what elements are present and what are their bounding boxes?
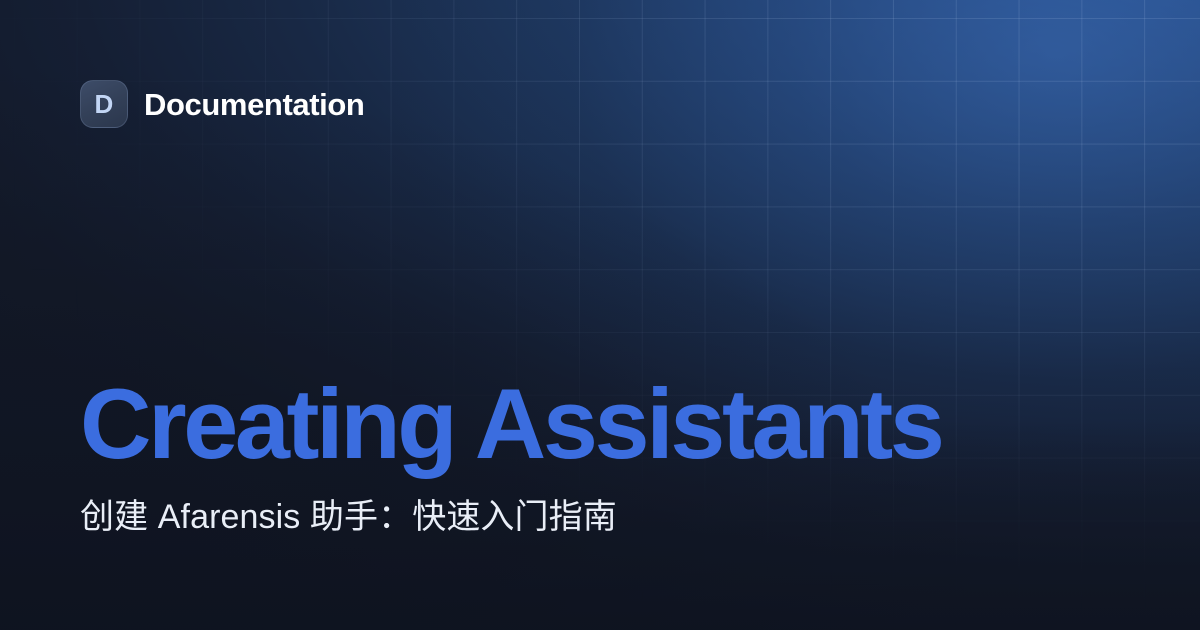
og-preview-card: D Documentation Creating Assistants 创建 A…	[0, 0, 1200, 630]
brand-name-label: Documentation	[144, 89, 364, 120]
brand-lockup: D Documentation	[80, 80, 364, 128]
doc-badge-icon: D	[80, 80, 128, 128]
headline-block: Creating Assistants 创建 Afarensis 助手：快速入门…	[80, 374, 1120, 539]
page-title: Creating Assistants	[80, 374, 1120, 473]
card-content: D Documentation Creating Assistants 创建 A…	[0, 0, 1200, 630]
page-subtitle: 创建 Afarensis 助手：快速入门指南	[80, 473, 1120, 539]
